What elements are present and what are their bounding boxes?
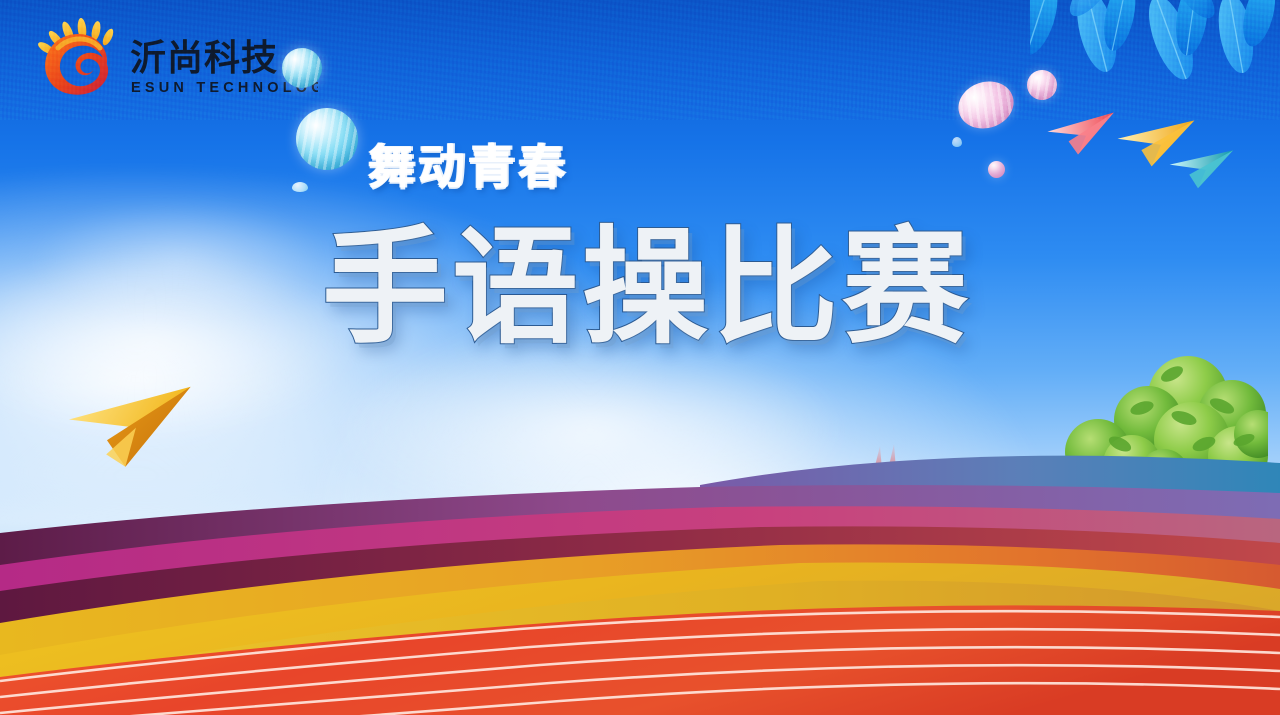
blue-leaves-icon <box>1030 0 1280 106</box>
cloud-upper-left <box>30 200 330 320</box>
running-track <box>0 595 1280 715</box>
poster-subtitle: 舞动青春 <box>368 128 568 197</box>
balloon-cyan-large <box>296 108 358 170</box>
droplet-small-icon <box>952 137 962 147</box>
balloon-pink-small <box>988 161 1005 178</box>
brand-logo[interactable]: 沂尚科技 ESUN TECHNOLOGY <box>18 18 318 104</box>
brand-name-cn: 沂尚科技 <box>130 38 278 79</box>
balloon-pink-mid <box>1027 70 1057 100</box>
poster-title: 手语操比赛 <box>322 222 972 354</box>
paper-plane-teal <box>1167 146 1237 193</box>
swirl-logo-icon <box>45 34 108 95</box>
poster-canvas: 沂尚科技 ESUN TECHNOLOGY <box>0 0 1280 715</box>
paper-plane-pink <box>1044 108 1120 161</box>
droplet-icon <box>292 182 308 192</box>
balloon-cyan-small <box>282 48 322 88</box>
